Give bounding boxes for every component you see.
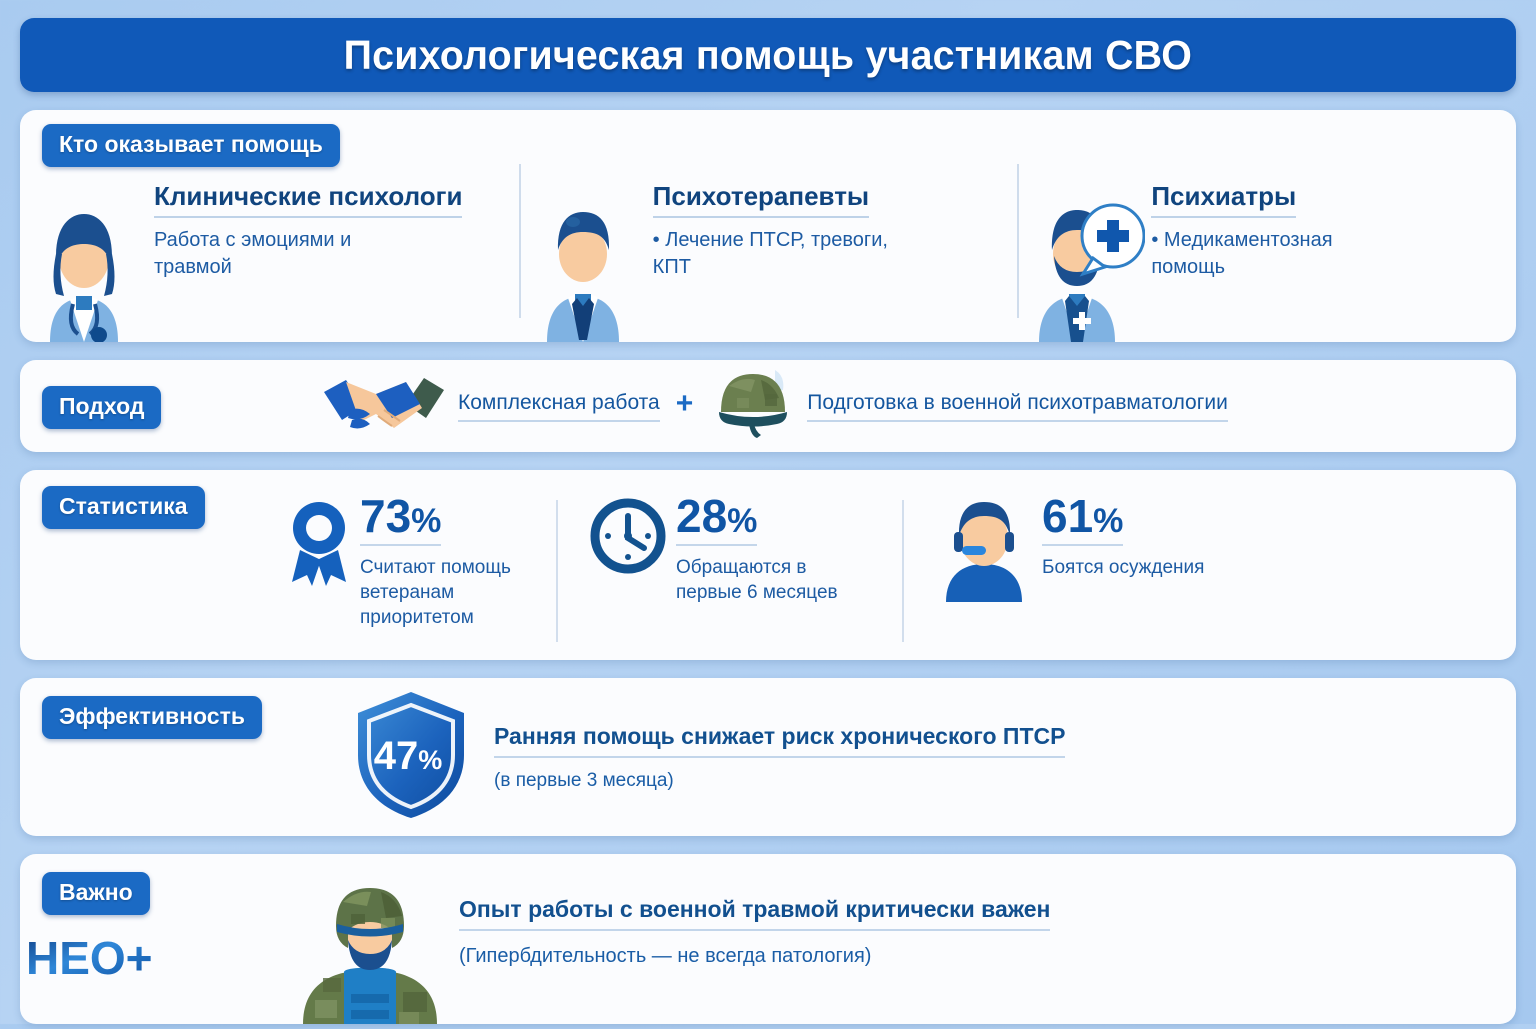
stat-value: 73% [360,494,441,546]
neo-plus-logo: НЕО+ [26,932,186,984]
male-therapist-icon [519,192,647,342]
section-badge-effectiveness: Эффективность [42,696,262,739]
stat-item: 28% Обращаются в первые 6 месяцев [556,494,902,660]
important-sub-text: (Гипербдительность — не всегда патология… [459,945,1050,968]
section-badge-important: Важно [42,872,150,915]
person-headset-icon [936,498,1032,607]
stat-percent-sign: % [1093,502,1123,540]
bullet-marker: • [653,229,666,251]
stat-percent-sign: % [727,502,757,540]
award-ribbon-icon [288,498,350,593]
section-effectiveness: Эффективность 47% Рання [20,678,1516,836]
stat-item: 73% Считают помощь ветеранам приоритетом [288,494,556,660]
soldier-icon [295,874,445,1024]
clock-icon [590,498,666,579]
specialist-title: Психотерапевты [653,182,869,218]
specialist-description-text: Медикаментозная помощь [1151,229,1332,278]
page-title: Психологическая помощь участникам СВО [344,32,1192,79]
specialist-description: • Лечение ПТСР, тревоги, КПТ [653,227,903,281]
section-badge-approach: Подход [42,386,161,429]
specialist-card-psychiatrist: Психиатры • Медикаментозная помощь [1017,154,1516,342]
stat-number: 61 [1042,490,1093,542]
section-approach: Подход Комплексная работа + [20,360,1516,452]
important-main-text: Опыт работы с военной травмой критически… [459,896,1050,931]
specialist-card-clinical-psychologist: Клинические психологи Работа с эмоциями … [20,154,519,342]
shield-icon: 47% [350,689,472,826]
military-helmet-icon [709,368,797,445]
section-statistics: Статистика 73% Считают помощь ветеранам … [20,470,1516,660]
approach-right-label: Подготовка в военной психотравматологии [807,391,1228,422]
specialist-title: Клинические психологи [154,182,462,218]
effectiveness-main-text: Ранняя помощь снижает риск хронического … [494,723,1065,758]
specialist-description: Работа с эмоциями и травмой [154,227,404,281]
stat-label: Считают помощь ветеранам приоритетом [360,555,530,630]
specialist-title: Психиатры [1151,182,1296,218]
specialist-card-psychotherapist: Психотерапевты • Лечение ПТСР, тревоги, … [519,154,1018,342]
infographic-page: Психологическая помощь участникам СВО Кт… [0,0,1536,1024]
section-badge-statistics: Статистика [42,486,205,529]
stat-label: Боятся осуждения [1042,555,1204,580]
logo-text: НЕО+ [26,932,153,984]
stat-value: 61% [1042,494,1123,546]
plus-sign: + [676,387,694,425]
handshake-icon [320,370,448,443]
specialist-description: • Медикаментозная помощь [1151,227,1401,281]
section-who-provides-help: Кто оказывает помощь [20,110,1516,342]
stat-label: Обращаются в первые 6 месяцев [676,555,876,605]
bullet-marker: • [1151,229,1164,251]
stat-percent-sign: % [411,502,441,540]
stat-number: 28 [676,490,727,542]
stat-item: 61% Боятся осуждения [902,494,1230,660]
stat-value: 28% [676,494,757,546]
specialist-description-text: Лечение ПТСР, тревоги, КПТ [653,229,888,278]
section-important: Важно [20,854,1516,1024]
stat-number: 73 [360,490,411,542]
female-psychologist-icon [20,192,148,342]
effectiveness-sub-text: (в первые 3 месяца) [494,770,1065,792]
speech-bubble-plus-icon [1082,205,1144,274]
approach-left-label: Комплексная работа [458,391,660,422]
page-title-bar: Психологическая помощь участникам СВО [20,18,1516,92]
bearded-psychiatrist-icon [1017,192,1145,342]
